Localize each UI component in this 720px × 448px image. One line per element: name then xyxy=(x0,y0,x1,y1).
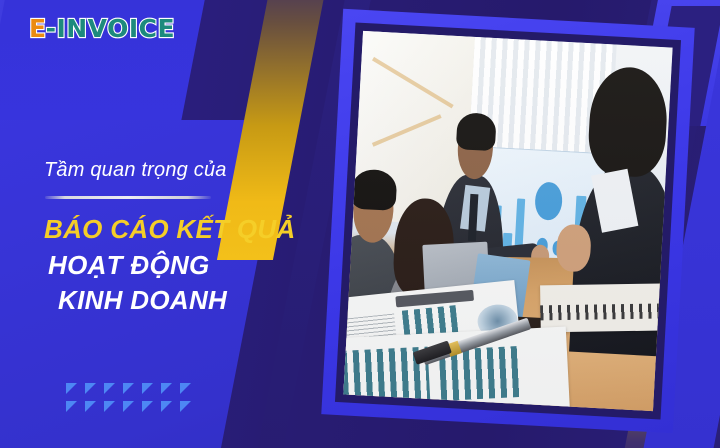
photo-notebook-spiral xyxy=(540,304,670,321)
triangle-icon xyxy=(161,401,172,412)
triangle-icon xyxy=(180,383,191,394)
title-divider xyxy=(45,196,211,199)
logo-letter-e: E xyxy=(29,16,47,41)
e-invoice-banner: E-INVOICE Tầm quan trọng của BÁO CÁO KẾT… xyxy=(0,0,720,448)
kicker-text: Tầm quan trọng của xyxy=(44,159,227,182)
headline-line-3: KINH DOANH xyxy=(58,283,296,319)
triangle-icon xyxy=(104,401,115,412)
headline-line-2: HOẠT ĐỘNG xyxy=(48,248,296,284)
triangle-icon xyxy=(142,383,153,394)
triangle-icon xyxy=(180,401,191,412)
photo-screen-pie xyxy=(535,182,564,221)
triangle-icon xyxy=(142,401,153,412)
triangle-icon xyxy=(66,383,77,394)
hero-photo xyxy=(343,31,672,411)
triangle-icon xyxy=(123,383,134,394)
triangle-icon xyxy=(66,401,77,412)
triangle-icon xyxy=(104,383,115,394)
headline-block: BÁO CÁO KẾT QUẢ HOẠT ĐỘNG KINH DOANH xyxy=(44,212,296,319)
triangle-icon xyxy=(85,401,96,412)
hero-photo-frame xyxy=(321,9,694,433)
triangle-decoration-grid xyxy=(66,383,199,419)
headline-line-1: BÁO CÁO KẾT QUẢ xyxy=(44,212,296,248)
triangle-icon xyxy=(85,383,96,394)
logo-text-invoice: -INVOICE xyxy=(46,16,176,41)
triangle-icon xyxy=(161,383,172,394)
photo-presenter-hair xyxy=(456,113,497,151)
triangle-icon xyxy=(123,401,134,412)
photo-attendee-left-hair xyxy=(350,169,397,211)
brand-logo[interactable]: E-INVOICE xyxy=(29,16,175,42)
